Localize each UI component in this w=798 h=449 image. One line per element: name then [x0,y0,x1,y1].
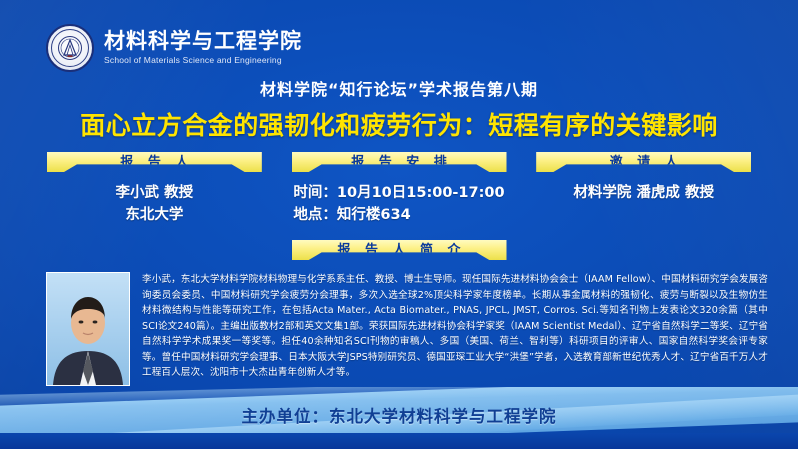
speaker-portrait-photo [46,272,130,386]
speaker-affiliation: 东北大学 [116,205,194,227]
banner-speaker: 报 告 人 [47,152,262,172]
footer-bottom-strip [0,433,798,449]
column-inviter: 邀 请 人 材料学院 潘虎成 教授 [529,152,758,227]
schedule-time: 时间：10月10日15:00-17:00 [293,183,504,205]
banner-inviter-label: 邀 请 人 [605,151,683,170]
column-speaker: 报 告 人 李小武 教授 东北大学 [40,152,269,227]
bio-section: 李小武，东北大学材料学院材料物理与化学系系主任、教授、博士生导师。现任国际先进材… [46,272,768,386]
speaker-details: 李小武 教授 东北大学 [116,183,194,227]
footer: 主办单位：东北大学材料科学与工程学院 [0,387,798,449]
school-name-cn: 材料科学与工程学院 [104,31,302,52]
school-name-block: 材料科学与工程学院 School of Materials Science an… [104,31,302,65]
banner-schedule-label: 报 告 安 排 [346,151,452,170]
organizer-text: 主办单位：东北大学材料科学与工程学院 [0,403,798,427]
column-schedule: 报 告 安 排 时间：10月10日15:00-17:00 地点：知行楼634 [285,152,514,227]
page-title: 面心立方合金的强韧化和疲劳行为：短程有序的关键影响 [0,106,798,142]
school-logo-block: 材料科学与工程学院 School of Materials Science an… [46,24,302,72]
speaker-name: 李小武 教授 [116,183,194,205]
schedule-details: 时间：10月10日15:00-17:00 地点：知行楼634 [293,183,504,227]
neu-crest-icon [46,24,94,72]
banner-speaker-label: 报 告 人 [115,151,193,170]
banner-inviter: 邀 请 人 [536,152,751,172]
banner-bio-label: 报 告 人 简 介 [332,239,465,258]
bio-banner-wrap: 报 告 人 简 介 [0,240,798,260]
schedule-location: 地点：知行楼634 [293,205,504,227]
info-columns: 报 告 人 李小武 教授 东北大学 报 告 安 排 时间：10月10日15:00… [40,152,758,227]
banner-schedule: 报 告 安 排 [292,152,507,172]
banner-bio: 报 告 人 简 介 [292,240,507,260]
speaker-bio-text: 李小武，东北大学材料学院材料物理与化学系系主任、教授、博士生导师。现任国际先进材… [142,272,768,381]
series-subtitle: 材料学院“知行论坛”学术报告第八期 [0,76,798,100]
inviter-details: 材料学院 潘虎成 教授 [573,183,714,205]
inviter-name: 材料学院 潘虎成 教授 [573,183,714,205]
poster-root: 材料科学与工程学院 School of Materials Science an… [0,0,798,449]
school-name-en: School of Materials Science and Engineer… [104,56,302,65]
